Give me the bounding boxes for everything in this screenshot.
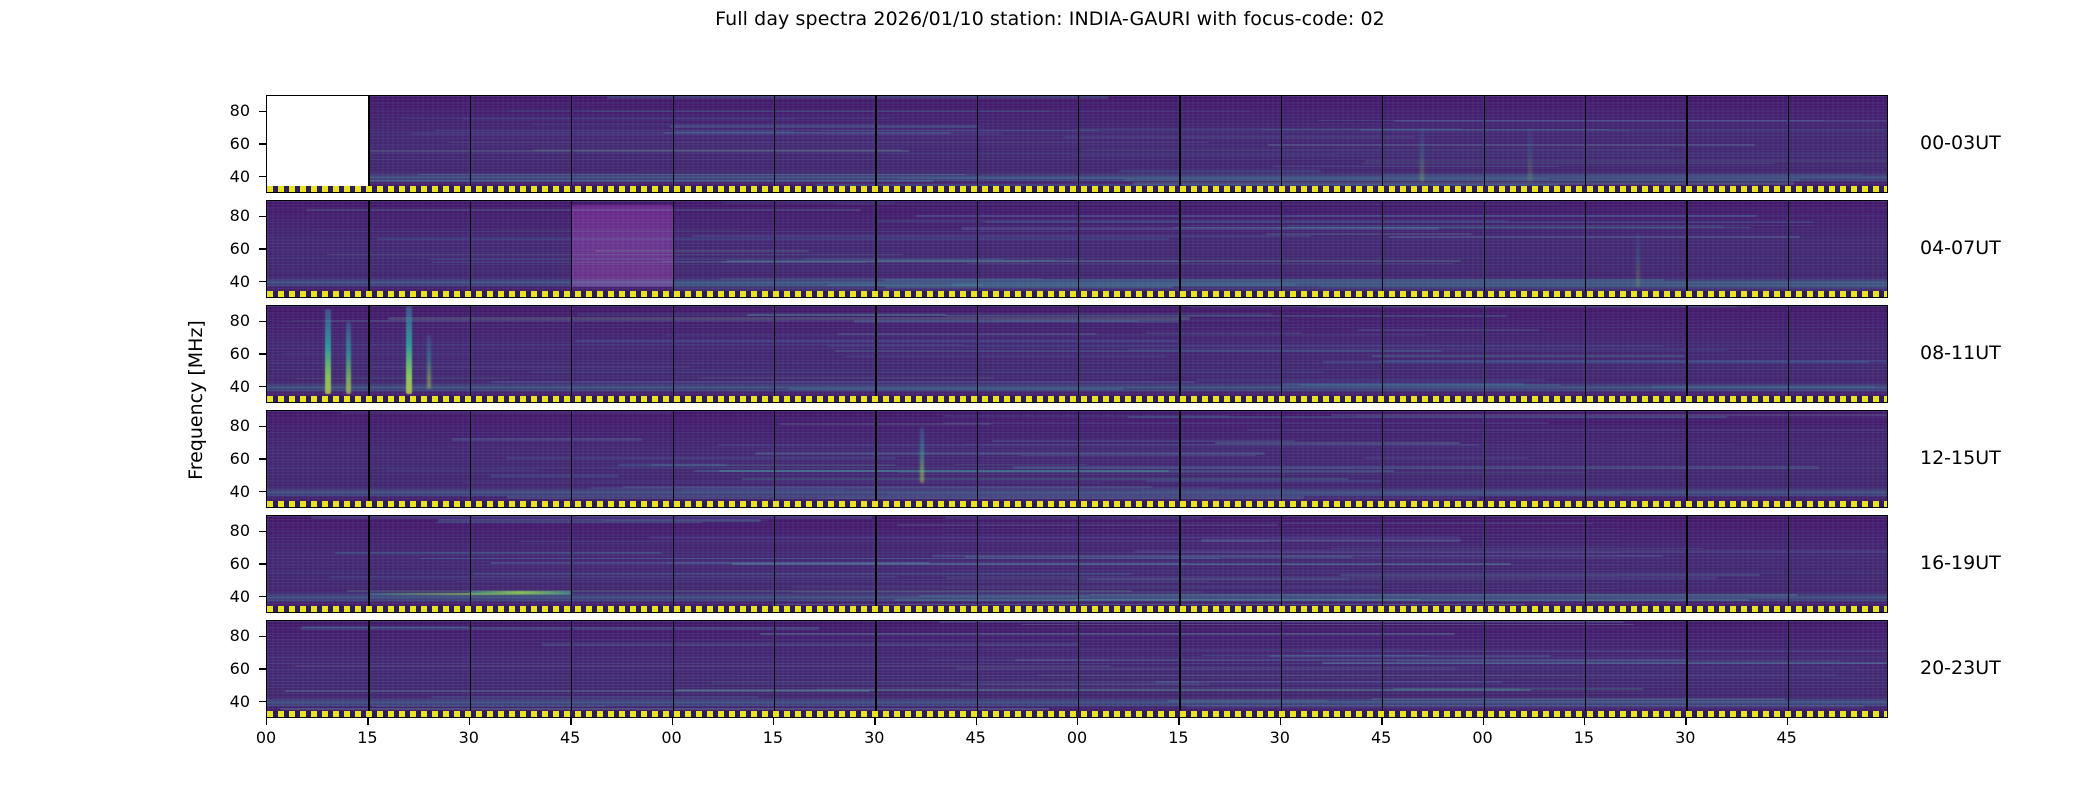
rfi-line	[747, 314, 946, 316]
y-axis-tick	[259, 596, 266, 597]
y-axis-tick-label: 60	[204, 554, 250, 573]
x-axis-tick	[1280, 718, 1281, 725]
rfi-line	[1316, 306, 1751, 307]
y-axis-tick	[259, 216, 266, 217]
horizontal-emission-band	[673, 131, 795, 133]
x-axis-tick-label: 30	[1660, 728, 1710, 747]
x-axis-tick	[1381, 718, 1382, 725]
solar-burst-streak	[325, 309, 331, 394]
bottom-dashed-marker	[267, 396, 1887, 402]
y-axis-tick-label: 80	[204, 521, 250, 540]
x-axis-tick	[672, 718, 673, 725]
rfi-line	[662, 261, 1188, 262]
banded-interference	[943, 516, 1619, 612]
rfi-line	[1360, 129, 1888, 131]
rfi-line	[1196, 379, 1545, 381]
panel-time-range-label: 16-19UT	[1920, 552, 2001, 574]
spectrogram-panel	[266, 515, 1888, 613]
y-axis-tick-label: 80	[204, 626, 250, 645]
rfi-line	[818, 497, 1478, 499]
y-axis-tick-label: 80	[204, 101, 250, 120]
x-axis-tick-label: 00	[1458, 728, 1508, 747]
rfi-line	[854, 320, 1179, 323]
bottom-dashed-marker	[267, 711, 1887, 717]
y-axis-tick-label: 40	[204, 692, 250, 711]
x-axis-tick-label: 30	[1255, 728, 1305, 747]
bottom-dashed-marker	[267, 291, 1887, 297]
y-axis-tick-label: 60	[204, 449, 250, 468]
x-axis-tick-label: 00	[647, 728, 697, 747]
rfi-line	[944, 415, 1230, 417]
y-axis-tick-label: 40	[204, 167, 250, 186]
x-axis-tick-label: 15	[1153, 728, 1203, 747]
bottom-dashed-marker	[267, 501, 1887, 507]
vertical-streak	[1636, 233, 1639, 287]
rfi-line	[698, 377, 995, 379]
x-axis-tick-label: 15	[342, 728, 392, 747]
rfi-line	[916, 215, 1756, 217]
rfi-line	[1013, 466, 1819, 469]
x-axis-tick	[1584, 718, 1585, 725]
y-axis-tick	[259, 321, 266, 322]
x-axis-tick-label: 45	[1762, 728, 1812, 747]
y-axis-tick	[259, 668, 266, 669]
rfi-line	[506, 457, 895, 459]
rfi-line	[463, 118, 795, 119]
rfi-line	[1247, 429, 1888, 431]
x-axis-tick-label: 00	[241, 728, 291, 747]
rfi-line	[1358, 329, 1540, 331]
rfi-line	[1364, 457, 1528, 459]
bottom-dashed-marker	[267, 186, 1887, 192]
bottom-dashed-marker	[267, 606, 1887, 612]
rfi-line	[943, 422, 1548, 424]
x-axis-tick	[1787, 718, 1788, 725]
x-axis-tick-label: 15	[1559, 728, 1609, 747]
solar-burst-streak	[427, 335, 431, 389]
y-axis-tick	[259, 143, 266, 144]
elevated-intensity-block	[571, 205, 672, 288]
spectrogram-image	[267, 621, 1887, 717]
rfi-line	[1372, 355, 1685, 357]
x-axis-tick	[570, 718, 571, 725]
horizontal-emission-band	[1146, 480, 1383, 482]
panel-plot-area	[266, 95, 1888, 193]
rfi-line	[575, 340, 1178, 342]
y-axis-tick	[259, 111, 266, 112]
vertical-streak	[1420, 128, 1423, 182]
rfi-line	[452, 438, 642, 440]
rfi-line	[1318, 120, 1823, 121]
spectrogram-figure: Full day spectra 2026/01/10 station: IND…	[0, 0, 2100, 800]
rfi-line	[665, 334, 1426, 336]
rfi-line	[967, 263, 1452, 264]
x-axis-tick-label: 45	[1356, 728, 1406, 747]
x-axis-tick	[266, 718, 267, 725]
panel-time-range-label: 20-23UT	[1920, 657, 2001, 679]
y-axis-tick-label: 80	[204, 311, 250, 330]
x-axis-tick	[773, 718, 774, 725]
panel-time-range-label: 00-03UT	[1920, 132, 2001, 154]
x-axis-tick	[1077, 718, 1078, 725]
y-axis-tick	[259, 491, 266, 492]
spectrogram-image	[267, 411, 1887, 507]
x-axis-tick	[1178, 718, 1179, 725]
spectrogram-image	[267, 96, 1887, 192]
rfi-line	[490, 562, 930, 563]
banded-interference	[267, 621, 1888, 717]
y-axis-tick	[259, 458, 266, 459]
x-axis-tick	[976, 718, 977, 725]
y-axis-tick-label: 80	[204, 416, 250, 435]
panel-plot-area	[266, 200, 1888, 298]
rfi-line	[369, 366, 690, 367]
horizontal-emission-band	[490, 475, 618, 477]
panel-time-range-label: 12-15UT	[1920, 447, 2001, 469]
y-axis-tick-label: 80	[204, 206, 250, 225]
rfi-line	[828, 345, 1664, 347]
rfi-line	[318, 231, 1067, 232]
x-axis-tick	[1685, 718, 1686, 725]
rfi-line	[530, 371, 1323, 374]
spectrogram-image	[267, 516, 1887, 612]
spectrogram-panel	[266, 95, 1888, 193]
rfi-line	[1174, 227, 1751, 228]
rfi-line	[335, 552, 662, 554]
vertical-streak	[1528, 128, 1531, 182]
low-frequency-band	[267, 383, 1887, 392]
horizontal-emission-band	[1119, 170, 1322, 172]
spectrogram-panel	[266, 620, 1888, 718]
rfi-line	[362, 150, 910, 151]
rfi-line	[282, 353, 472, 354]
panel-time-range-label: 04-07UT	[1920, 237, 2001, 259]
y-axis-tick-label: 60	[204, 344, 250, 363]
x-axis-tick-label: 45	[545, 728, 595, 747]
horizontal-emission-band	[470, 591, 571, 594]
panel-plot-area	[266, 515, 1888, 613]
y-axis-tick-label: 40	[204, 482, 250, 501]
spectrogram-panel	[266, 200, 1888, 298]
rfi-line	[963, 444, 1734, 445]
y-axis-tick	[259, 531, 266, 532]
spectrogram-image	[267, 306, 1887, 402]
y-axis-tick-label: 40	[204, 377, 250, 396]
y-axis-tick-label: 60	[204, 659, 250, 678]
x-axis-tick-label: 30	[849, 728, 899, 747]
y-axis-tick	[259, 386, 266, 387]
y-axis-tick	[259, 353, 266, 354]
rfi-line	[377, 238, 1170, 240]
y-axis-tick	[259, 248, 266, 249]
x-axis-tick	[874, 718, 875, 725]
x-axis-tick	[1483, 718, 1484, 725]
spectrogram-panel	[266, 305, 1888, 403]
y-axis-tick	[259, 281, 266, 282]
missing-data-block	[267, 96, 368, 192]
rfi-line	[670, 125, 979, 127]
y-axis-tick-label: 40	[204, 272, 250, 291]
x-axis-tick	[367, 718, 368, 725]
solar-burst-streak	[346, 322, 351, 394]
rfi-line	[985, 221, 1813, 223]
rfi-line	[719, 470, 1168, 472]
rfi-line	[607, 96, 1107, 98]
y-axis-tick	[259, 176, 266, 177]
rfi-line	[1081, 149, 1671, 151]
y-axis-tick	[259, 701, 266, 702]
x-axis-tick-label: 30	[444, 728, 494, 747]
rfi-line	[429, 259, 1003, 260]
panel-plot-area	[266, 620, 1888, 718]
panel-plot-area	[266, 410, 1888, 508]
rfi-line	[845, 356, 1166, 357]
x-axis-tick	[469, 718, 470, 725]
figure-title: Full day spectra 2026/01/10 station: IND…	[0, 8, 2100, 30]
y-axis-tick	[259, 426, 266, 427]
rfi-line	[1389, 236, 1800, 238]
solar-burst-streak	[920, 427, 924, 483]
rfi-line	[692, 235, 1311, 237]
horizontal-emission-band	[618, 464, 726, 466]
y-axis-tick-label: 60	[204, 134, 250, 153]
rfi-line	[1064, 136, 1415, 138]
panel-time-range-label: 08-11UT	[1920, 342, 2001, 364]
spectrogram-image	[267, 201, 1887, 297]
y-axis-tick-label: 40	[204, 587, 250, 606]
horizontal-emission-band	[1281, 383, 1524, 385]
rfi-line	[1215, 442, 1460, 444]
horizontal-emission-band	[1652, 386, 1875, 388]
y-axis-tick	[259, 563, 266, 564]
rfi-line	[835, 203, 1561, 205]
y-axis-tick	[259, 636, 266, 637]
solar-burst-streak	[406, 306, 412, 394]
rfi-line	[330, 576, 897, 578]
rfi-line	[435, 522, 701, 524]
x-axis-tick-label: 15	[748, 728, 798, 747]
x-axis-tick-label: 45	[951, 728, 1001, 747]
rfi-line	[1365, 160, 1888, 162]
x-axis-tick-label: 00	[1052, 728, 1102, 747]
spectrogram-panel	[266, 410, 1888, 508]
low-frequency-band	[267, 488, 1887, 497]
panel-plot-area	[266, 305, 1888, 403]
rfi-line	[945, 315, 1507, 317]
rfi-line	[1273, 166, 1559, 167]
y-axis-tick-label: 60	[204, 239, 250, 258]
